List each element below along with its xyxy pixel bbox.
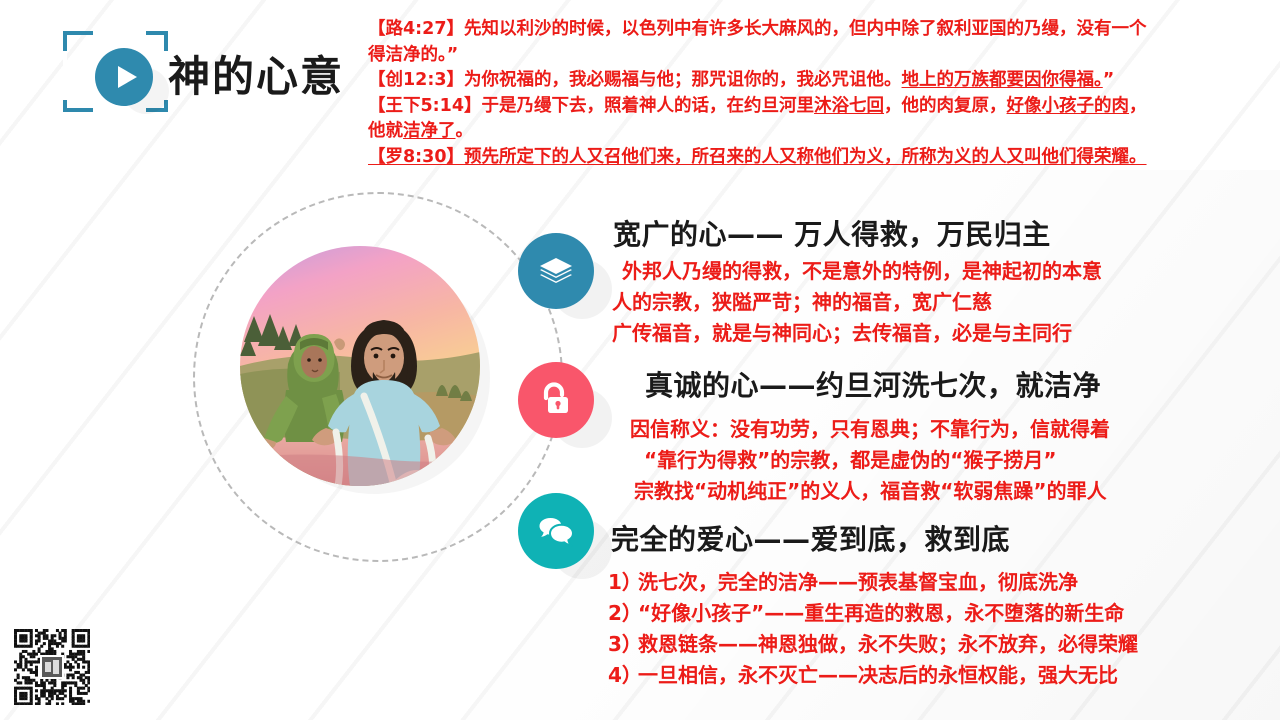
chat-bubbles-icon[interactable]: [518, 493, 594, 569]
list-item: 2） “好像小孩子”——重生再造的救恩，永不堕落的新生命: [608, 598, 1138, 629]
qr-code[interactable]: [14, 629, 90, 705]
list-item-number: 2）: [608, 598, 638, 629]
list-item-text: 一旦相信，永不灭亡——决志后的永恒权能，强大无比: [638, 660, 1118, 691]
list-item-text: 救恩链条——神恩独做，永不失败；永不放弃，必得荣耀: [638, 629, 1138, 660]
section-2-heading: 真诚的心——约旦河洗七次，就洁净: [645, 364, 1101, 404]
layers-icon[interactable]: [518, 233, 594, 309]
scripture-line-1: 【路4:27】先知以利沙的时候，以色列中有许多长大麻风的，但内中除了叙利亚国的乃…: [368, 17, 1268, 43]
list-item: 3） 救恩链条——神恩独做，永不失败；永不放弃，必得荣耀: [608, 629, 1138, 660]
scripture-line-2: 得洁净的。”: [368, 43, 1268, 69]
list-item-text: 洗七次，完全的洁净——预表基督宝血，彻底洗净: [638, 567, 1078, 598]
section-2-line-1: 因信称义：没有功劳，只有恩典；不靠行为，信就得着: [630, 414, 1110, 445]
naaman-illustration: [240, 246, 480, 486]
section-1-body: 外邦人乃缦的得救，不是意外的特例，是神起初的本意 人的宗教，狭隘严苛；神的福音，…: [622, 256, 1102, 349]
list-item-number: 1）: [608, 567, 638, 598]
list-item: 4） 一旦相信，永不灭亡——决志后的永恒权能，强大无比: [608, 660, 1138, 691]
unlock-icon[interactable]: [518, 362, 594, 438]
section-3-heading: 完全的爱心——爱到底，救到底: [611, 518, 1010, 558]
section-1-line-1: 外邦人乃缦的得救，不是意外的特例，是神起初的本意: [622, 256, 1102, 287]
list-item-text: “好像小孩子”——重生再造的救恩，永不堕落的新生命: [638, 598, 1124, 629]
section-3-body: 1） 洗七次，完全的洁净——预表基督宝血，彻底洗净 2） “好像小孩子”——重生…: [608, 567, 1138, 691]
section-1-line-2: 人的宗教，狭隘严苛；神的福音，宽广仁慈: [612, 287, 1102, 318]
scripture-line-4: 【王下5:14】于是乃缦下去，照着神人的话，在约旦河里沐浴七回，他的肉复原，好像…: [368, 94, 1268, 120]
list-item: 1） 洗七次，完全的洁净——预表基督宝血，彻底洗净: [608, 567, 1138, 598]
scripture-line-6: 【罗8:30】预先所定下的人又召他们来，所召来的人又称他们为义，所称为义的人又叫…: [368, 145, 1268, 171]
list-item-number: 4）: [608, 660, 638, 691]
section-2-line-2: “靠行为得救”的宗教，都是虚伪的“猴子捞月”: [644, 445, 1110, 476]
list-item-number: 3）: [608, 629, 638, 660]
section-2-line-3: 宗教找“动机纯正”的义人，福音救“软弱焦躁”的罪人: [634, 476, 1110, 507]
scripture-line-5: 他就洁净了。: [368, 119, 1268, 145]
play-button-icon: [95, 48, 153, 106]
section-1-line-3: 广传福音，就是与神同心；去传福音，必是与主同行: [612, 318, 1102, 349]
section-2-body: 因信称义：没有功劳，只有恩典；不靠行为，信就得着 “靠行为得救”的宗教，都是虚伪…: [630, 414, 1110, 507]
section-1-heading: 宽广的心—— 万人得救，万民归主: [613, 213, 1051, 253]
page-title: 神的心意: [168, 43, 344, 104]
scripture-line-3: 【创12:3】为你祝福的，我必赐福与他；那咒诅你的，我必咒诅他。地上的万族都要因…: [368, 68, 1268, 94]
scripture-block: 【路4:27】先知以利沙的时候，以色列中有许多长大麻风的，但内中除了叙利亚国的乃…: [368, 17, 1268, 170]
